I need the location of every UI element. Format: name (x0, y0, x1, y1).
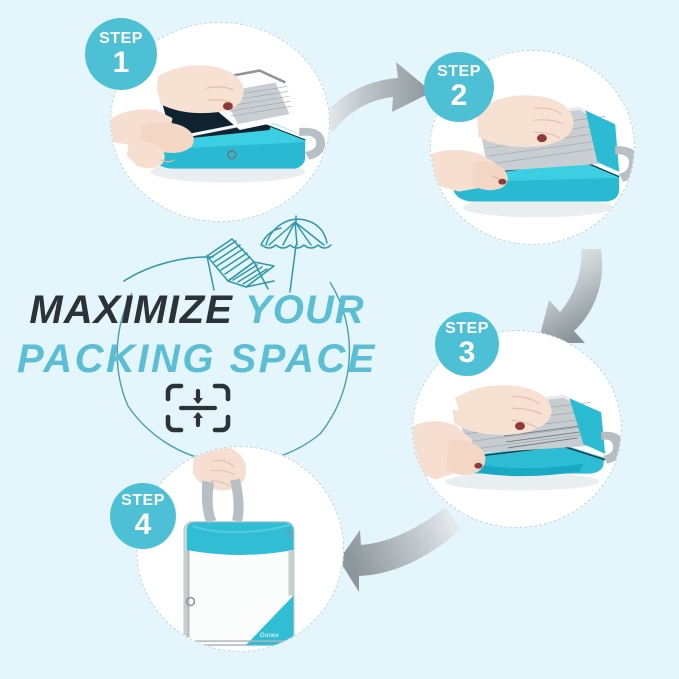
infographic-canvas: STEP 1 (0, 0, 679, 679)
svg-text:Gonex: Gonex (260, 632, 280, 639)
step-2-badge-word: STEP (437, 64, 481, 80)
step-4-photo: Gonex (137, 447, 343, 651)
beach-chair-and-parasol-icon (124, 216, 331, 292)
step-4-badge-word: STEP (121, 493, 165, 509)
step-2-badge: STEP 2 (424, 52, 494, 122)
compress-vertical-icon (168, 386, 228, 430)
step-3-badge-number: 3 (459, 338, 476, 368)
step-3-badge-word: STEP (445, 321, 489, 337)
headline-word-maximize: MAXIMIZE (29, 288, 233, 332)
step-1-badge-word: STEP (99, 31, 143, 47)
step-4-badge: STEP 4 (110, 483, 176, 549)
arrow-1-to-2 (318, 62, 432, 132)
headline-block: MAXIMIZE YOUR PACKING SPACE (14, 288, 380, 382)
step-4-badge-number: 4 (135, 510, 152, 540)
step-2-badge-number: 2 (451, 81, 468, 111)
arrow-2-to-3 (538, 249, 602, 343)
step-1-badge-number: 1 (113, 48, 130, 78)
headline-line-1: MAXIMIZE YOUR (14, 288, 380, 333)
headline-word-your: YOUR (245, 288, 365, 332)
step-4-photo-circle: Gonex (136, 446, 344, 652)
step-1-badge: STEP 1 (85, 18, 157, 90)
step-3-badge: STEP 3 (435, 312, 499, 376)
headline-line-2: PACKING SPACE (14, 337, 380, 382)
